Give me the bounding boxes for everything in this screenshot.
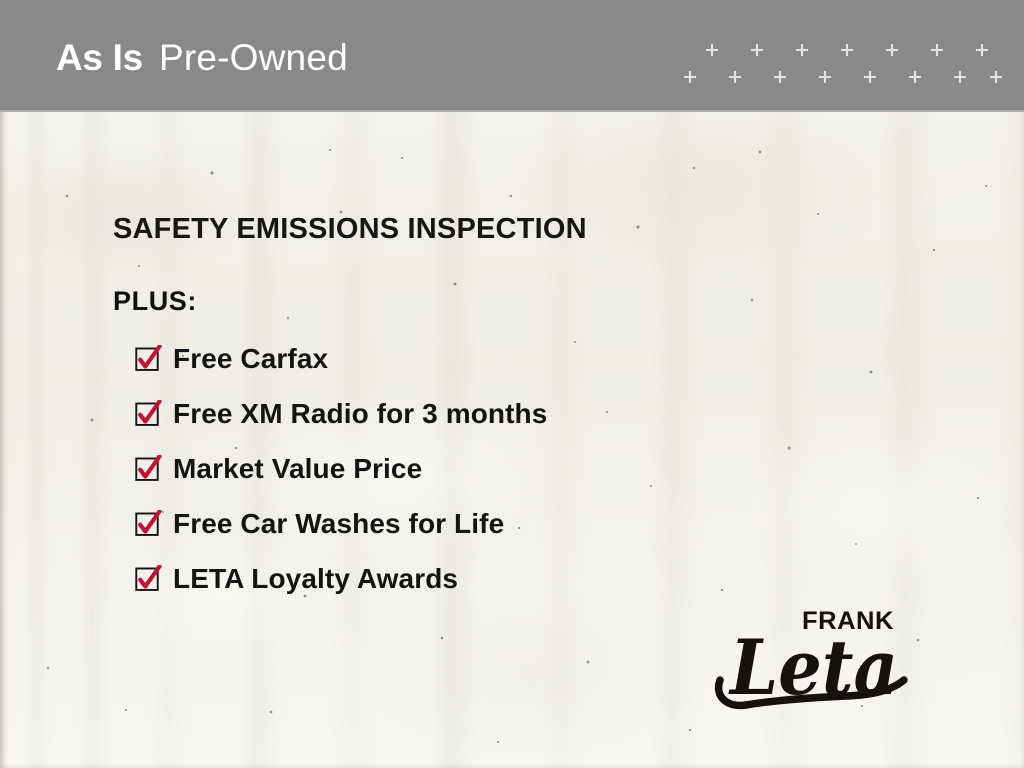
list-item[interactable]: Market Value Price bbox=[135, 450, 835, 505]
plus-pattern-decoration bbox=[672, 36, 1012, 92]
checkbox-checked-icon[interactable] bbox=[135, 345, 162, 372]
list-item[interactable]: Free Carfax bbox=[135, 340, 835, 395]
checkbox-checked-icon[interactable] bbox=[135, 455, 162, 482]
benefits-checklist: Free Carfax Free XM Radio for 3 months M… bbox=[135, 340, 835, 615]
page-title-bold: As Is bbox=[56, 37, 143, 78]
checkbox-checked-icon[interactable] bbox=[135, 565, 162, 592]
list-item-label: Free XM Radio for 3 months bbox=[173, 395, 547, 433]
list-item[interactable]: Free Car Washes for Life bbox=[135, 505, 835, 560]
frank-leta-logo: FRANK Leta bbox=[706, 602, 918, 720]
list-item-label: Free Carfax bbox=[173, 340, 328, 378]
list-item[interactable]: Free XM Radio for 3 months bbox=[135, 395, 835, 450]
paper-right-edge bbox=[1019, 0, 1024, 768]
page-title: As IsPre-Owned bbox=[56, 36, 348, 80]
plus-icon-row-top bbox=[706, 44, 988, 56]
subheading-text: SAFETY EMISSIONS INSPECTION bbox=[113, 213, 587, 246]
paper-bottom-edge bbox=[0, 763, 1024, 768]
list-item-label: Free Car Washes for Life bbox=[173, 505, 504, 543]
header-bar: As IsPre-Owned bbox=[0, 0, 1024, 112]
paper-left-edge bbox=[0, 0, 6, 768]
plus-label: PLUS: bbox=[113, 286, 197, 317]
slide-canvas: As IsPre-Owned bbox=[0, 0, 1024, 768]
list-item-label: Market Value Price bbox=[173, 450, 422, 488]
checkbox-checked-icon[interactable] bbox=[135, 400, 162, 427]
list-item-label: LETA Loyalty Awards bbox=[173, 560, 458, 598]
plus-icon-row-bottom bbox=[684, 71, 1002, 83]
page-title-light: Pre-Owned bbox=[159, 37, 348, 78]
checkbox-checked-icon[interactable] bbox=[135, 510, 162, 537]
